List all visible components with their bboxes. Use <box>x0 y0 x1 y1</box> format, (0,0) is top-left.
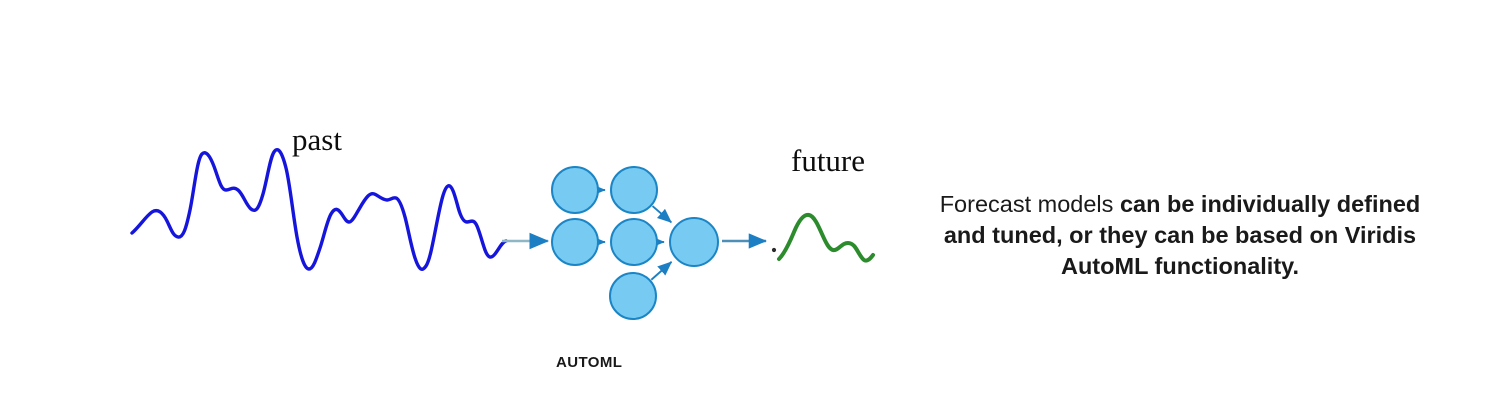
network-edge-h2-to-out <box>653 206 672 222</box>
network-node-h2 <box>611 167 657 213</box>
caption-regular-text: Forecast models <box>940 191 1120 217</box>
network-node-out <box>670 218 718 266</box>
network-node-i2 <box>611 219 657 265</box>
past-label: past <box>292 122 342 158</box>
network-node-b1 <box>610 273 656 319</box>
automl-label: AUTOML <box>556 354 622 371</box>
automl-network <box>552 167 718 319</box>
arrow-network-to-future <box>722 241 776 252</box>
network-edge-b1-to-out <box>651 262 671 280</box>
future-series-group <box>779 215 873 261</box>
past-series-group <box>132 150 506 270</box>
network-node-i1 <box>552 219 598 265</box>
future-series-line <box>779 215 873 261</box>
future-label: future <box>791 143 865 179</box>
figure-canvas: past future AUTOML Forecast models can b… <box>0 0 1500 419</box>
future-start-dot <box>772 248 776 252</box>
network-nodes <box>552 167 718 319</box>
network-node-h1 <box>552 167 598 213</box>
past-series-line <box>132 150 506 270</box>
caption-text: Forecast models can be individually defi… <box>930 189 1430 282</box>
